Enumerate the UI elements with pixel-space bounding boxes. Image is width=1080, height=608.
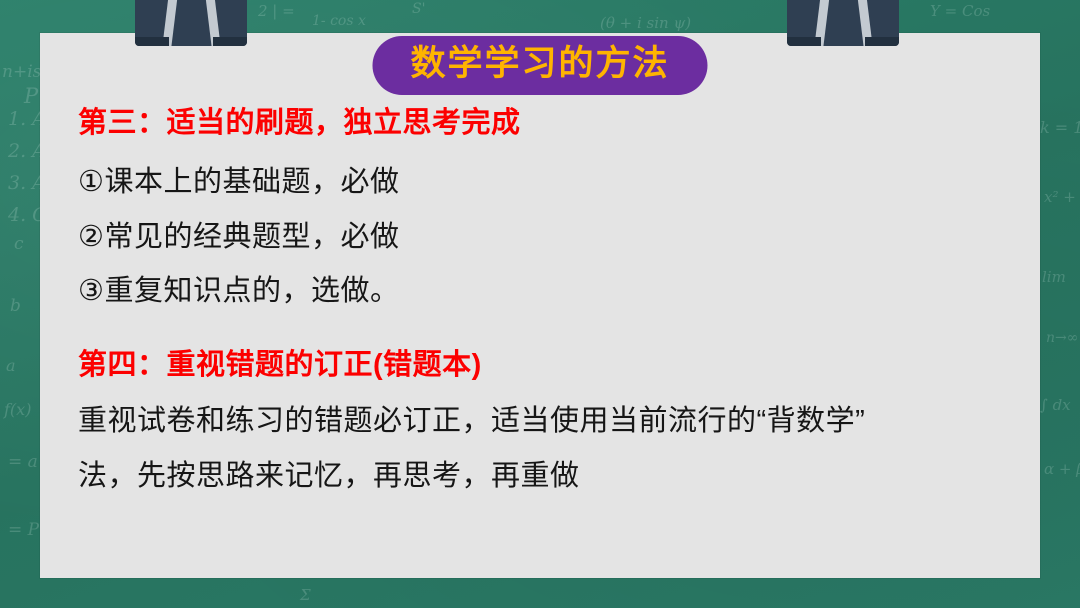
chalk-mark: = P bbox=[8, 520, 39, 540]
chalk-mark: n→∞ bbox=[1046, 330, 1078, 346]
chalk-mark: a bbox=[6, 356, 16, 375]
list-item: ①课本上的基础题，必做 bbox=[78, 164, 1020, 200]
chalk-mark: P bbox=[24, 84, 38, 108]
chalk-mark: Y = Cos bbox=[930, 2, 990, 20]
chalk-mark: f(x) bbox=[4, 400, 31, 419]
list-item: ③重复知识点的，选做。 bbox=[78, 273, 1020, 309]
clip-foot bbox=[865, 37, 899, 46]
chalk-mark: = a bbox=[8, 452, 38, 472]
spacer bbox=[78, 383, 1020, 403]
clip-foot bbox=[787, 37, 821, 46]
paragraph-line: 重视试卷和练习的错题必订正，适当使用当前流行的“背数学” bbox=[78, 403, 1020, 439]
spacer bbox=[78, 440, 1020, 458]
chalk-mark: b bbox=[10, 296, 21, 316]
chalk-mark: k = 1 bbox=[1040, 118, 1080, 137]
chalk-mark: Σ bbox=[300, 586, 311, 604]
paragraph-line: 法，先按思路来记忆，再思考，再重做 bbox=[78, 458, 1020, 494]
spacer bbox=[78, 255, 1020, 273]
spacer bbox=[78, 201, 1020, 219]
chalk-mark: 1- cos x bbox=[312, 13, 366, 29]
chalk-mark: c bbox=[14, 234, 24, 254]
chalk-mark: x² + y² bbox=[1044, 188, 1080, 206]
chalk-mark: n+is bbox=[2, 62, 41, 82]
binder-clip-left-icon bbox=[135, 0, 247, 46]
section-heading-4: 第四：重视错题的订正(错题本) bbox=[78, 347, 1020, 383]
chalk-mark: α + β bbox=[1044, 460, 1080, 478]
binder-clip-right-icon bbox=[787, 0, 899, 46]
page-title: 数学学习的方法 bbox=[372, 36, 707, 95]
content-body: 第三：适当的刷题，独立思考完成 ①课本上的基础题，必做 ②常见的经典题型，必做 … bbox=[78, 105, 1020, 494]
list-item: ②常见的经典题型，必做 bbox=[78, 219, 1020, 255]
chalk-mark: (θ + i sin ψ) bbox=[600, 14, 691, 32]
chalk-mark: S' bbox=[412, 1, 425, 17]
slide-root: 1. A 2. A 3. A 4. C c b a f(x) = a = P n… bbox=[0, 0, 1080, 608]
clip-foot bbox=[213, 37, 247, 46]
clip-foot bbox=[135, 37, 169, 46]
chalk-mark: ∫ dx bbox=[1040, 396, 1071, 414]
spacer bbox=[78, 309, 1020, 347]
section-heading-3: 第三：适当的刷题，独立思考完成 bbox=[78, 105, 1020, 141]
chalk-mark: lim bbox=[1042, 268, 1066, 286]
chalk-mark: 2 | = bbox=[258, 2, 295, 20]
spacer bbox=[78, 141, 1020, 164]
